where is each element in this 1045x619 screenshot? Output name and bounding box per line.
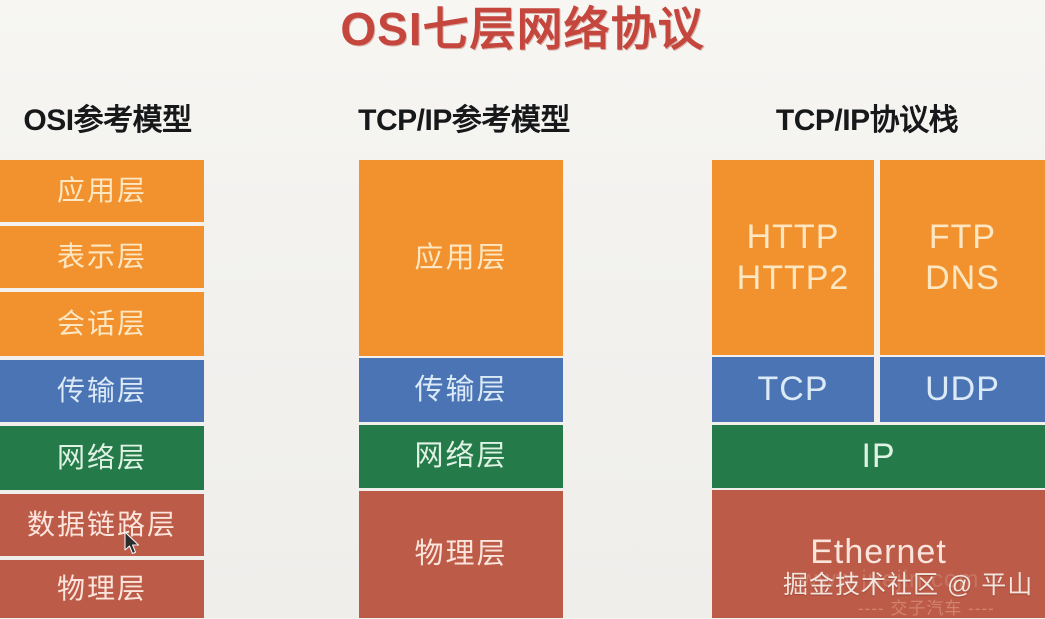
tcpip-model-layer-network: 网络层	[359, 425, 563, 488]
column-header-tcpip-model: TCP/IP参考模型	[338, 101, 590, 141]
watermark-secondary: ---- 交子汽车 ----	[858, 594, 995, 619]
stack-label-http2: HTTP2	[737, 258, 850, 298]
stack-label-dns: DNS	[925, 258, 1000, 298]
osi-layer-network: 网络层	[0, 426, 204, 490]
column-header-tcpip-stack: TCP/IP协议栈	[712, 101, 1022, 141]
tcpip-model-layer-application: 应用层	[359, 160, 563, 356]
stack-application-http: HTTP HTTP2	[712, 160, 874, 355]
diagram-canvas: OSI七层网络协议 OSI参考模型 TCP/IP参考模型 TCP/IP协议栈 应…	[0, 0, 1045, 618]
page-title: OSI七层网络协议	[0, 0, 1045, 58]
stack-transport-tcp: TCP	[712, 357, 874, 422]
stack-label-http: HTTP	[747, 217, 840, 257]
column-header-osi: OSI参考模型	[5, 101, 210, 141]
tcpip-model-layer-physical: 物理层	[359, 491, 563, 618]
osi-layer-transport: 传输层	[0, 360, 204, 422]
osi-layer-application: 应用层	[0, 160, 204, 222]
stack-transport-udp: UDP	[880, 357, 1045, 422]
stack-application-ftp-dns: FTP DNS	[880, 160, 1045, 355]
osi-layer-physical: 物理层	[0, 560, 204, 618]
osi-layer-datalink: 数据链路层	[0, 494, 204, 556]
osi-layer-session: 会话层	[0, 292, 204, 356]
stack-label-ftp: FTP	[929, 217, 996, 257]
tcpip-model-layer-transport: 传输层	[359, 358, 563, 422]
osi-layer-presentation: 表示层	[0, 226, 204, 288]
stack-network-ip: IP	[712, 425, 1045, 488]
